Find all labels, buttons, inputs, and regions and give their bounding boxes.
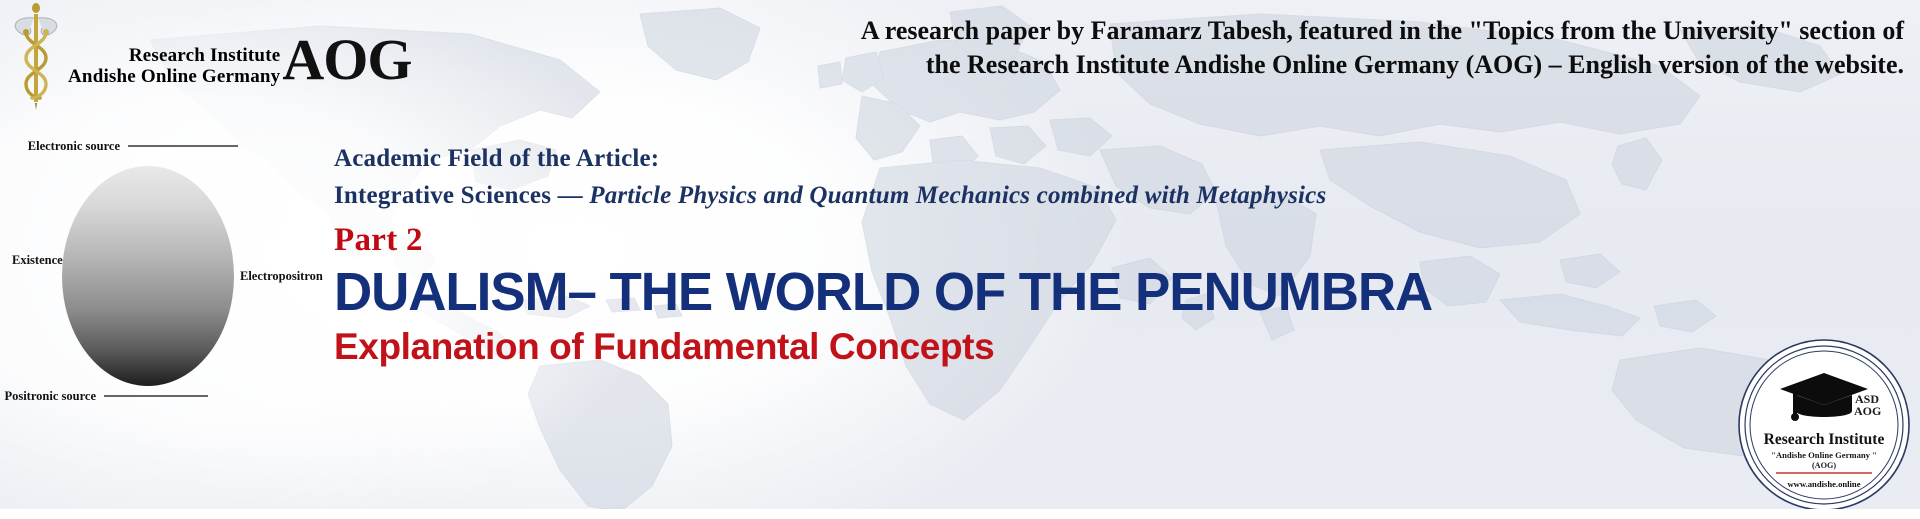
bottom-white-edge [0, 509, 1920, 519]
header-note: A research paper by Faramarz Tabesh, fea… [844, 14, 1904, 83]
aog-brand-logo: Research Institute Andishe Online German… [0, 0, 420, 120]
article-subtitle: Explanation of Fundamental Concepts [334, 327, 1754, 366]
seal-institute-name: Research Institute [1764, 431, 1885, 448]
article-banner: Research Institute Andishe Online German… [0, 0, 1920, 519]
academic-field-value-italic: Particle Physics and Quantum Mechanics c… [589, 182, 1326, 209]
seal-subname: "Andishe Online Germany " [1771, 450, 1877, 460]
existence-ellipse-diagram: Electronic source Existence Electroposit… [0, 128, 330, 418]
seal-cap-line-2: AOG [1854, 404, 1881, 418]
diagram-label-right: Electropositron [240, 269, 323, 283]
article-title: DUALISM– THE WORLD OF THE PENUMBRA [334, 264, 1726, 320]
academic-field-value: Integrative Sciences — Particle Physics … [334, 179, 1754, 214]
academic-field-value-plain: Integrative Sciences — [334, 182, 589, 209]
article-heading-block: Academic Field of the Article: Integrati… [334, 142, 1754, 366]
caduceus-icon [8, 2, 64, 110]
aog-seal-logo: ASD AOG Research Institute "Andishe Onli… [1736, 337, 1912, 513]
diagram-label-left: Existence [12, 253, 63, 267]
brand-line-2: Andishe Online Germany [68, 67, 280, 88]
part-label: Part 2 [334, 223, 1754, 258]
diagram-label-bottom: Positronic source [4, 389, 96, 403]
academic-field-label: Academic Field of the Article: [334, 142, 1754, 177]
diagram-label-top: Electronic source [28, 139, 121, 153]
brand-line-1: Research Institute [68, 46, 280, 67]
seal-website: www.andishe.online [1787, 479, 1860, 489]
brand-acronym: AOG [282, 32, 411, 87]
seal-acronym: (AOG) [1812, 461, 1836, 470]
